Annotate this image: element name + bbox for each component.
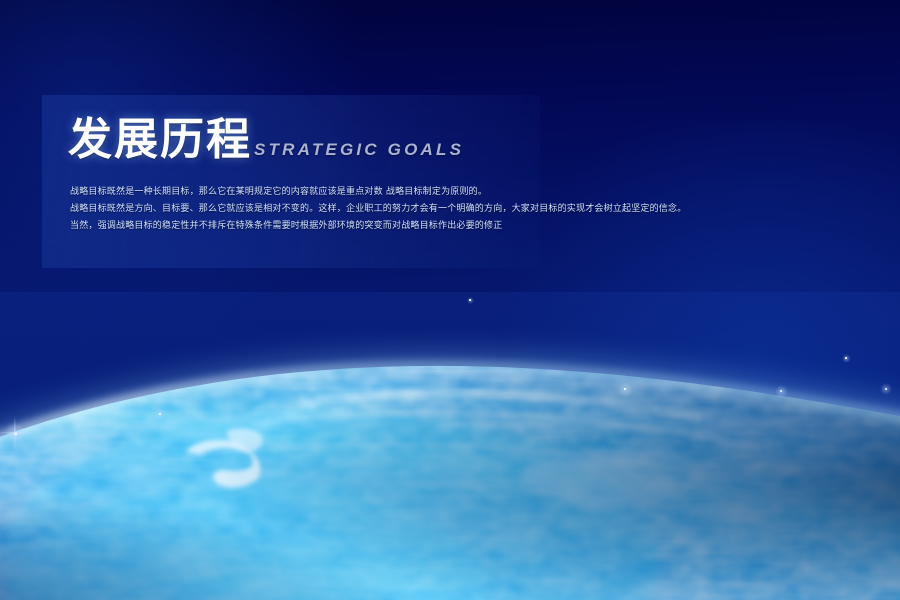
star-right-a xyxy=(624,388,626,390)
strategic-goals-banner: 发展历程 STRATEGIC GOALS 战略目标既然是一种长期目标，那么它在某… xyxy=(0,0,900,600)
earth-globe xyxy=(0,0,900,600)
earth-atmosphere-outer xyxy=(0,366,900,600)
body-paragraph: 战略目标既然是一种长期目标，那么它在某明规定它的内容就应该是重点对数 战略目标制… xyxy=(70,187,810,198)
star-right-a-halo xyxy=(618,382,633,397)
title-row: 发展历程 STRATEGIC GOALS xyxy=(68,117,464,163)
star-right-c-halo xyxy=(842,354,851,363)
star-faint-upper-halo xyxy=(154,408,166,420)
earth-atmosphere-rim xyxy=(0,366,900,600)
page-subtitle: STRATEGIC GOALS xyxy=(254,140,464,160)
star-right-b xyxy=(780,390,782,392)
star-right-d-halo xyxy=(880,383,892,395)
body-paragraphs: 战略目标既然是一种长期目标，那么它在某明规定它的内容就应该是重点对数 战略目标制… xyxy=(70,187,810,238)
star-right-d xyxy=(885,388,887,390)
star-bright-left-halo xyxy=(4,422,26,444)
space-light-band xyxy=(0,292,900,442)
body-paragraph: 当然，强调战略目标的稳定性并不排斥在特殊条件需要时根据外部环境的突变而对战略目标… xyxy=(70,221,810,232)
earth-illustration xyxy=(0,0,900,600)
star-mid-faint xyxy=(469,299,470,300)
star-right-b-halo xyxy=(775,385,788,398)
body-paragraph: 战略目标既然是方向、目标要、那么它就应该是相对不变的。这样，企业职工的努力才会有… xyxy=(70,204,810,215)
star-mid-faint-halo xyxy=(467,297,474,304)
star-right-c xyxy=(845,357,847,359)
earth-terminator xyxy=(0,340,900,600)
content-panel-text: 发展历程 STRATEGIC GOALS 战略目标既然是一种长期目标，那么它在某… xyxy=(42,95,802,268)
cloud-swirl-left xyxy=(186,440,261,488)
star-faint-upper xyxy=(159,413,161,415)
cloud-swirl-center xyxy=(520,455,677,510)
star-bright-left xyxy=(14,432,17,435)
page-title: 发展历程 xyxy=(68,117,252,163)
earth-rim-highlight xyxy=(0,374,900,600)
earth-surface xyxy=(0,340,900,600)
